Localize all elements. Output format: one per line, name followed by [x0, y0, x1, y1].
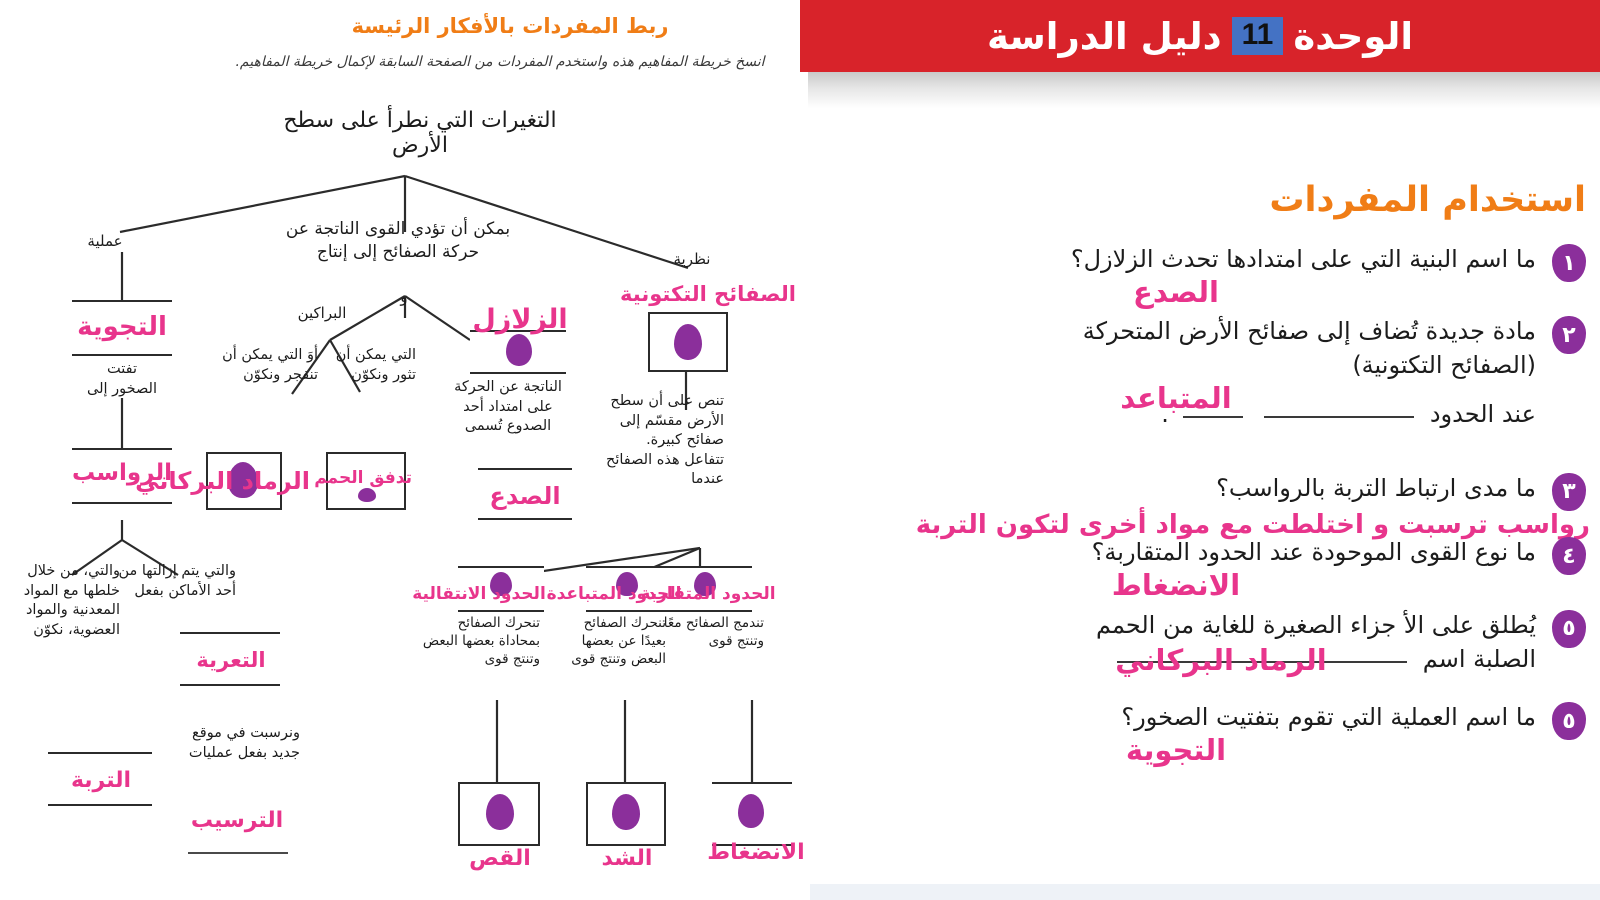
question-2-blank-short[interactable]: [1183, 416, 1243, 418]
compression-blob: [738, 794, 764, 828]
volcanic-ash-label: الرماد البركاني: [178, 468, 310, 495]
shear-blob: [486, 794, 514, 830]
question-4: ٤ ما نوع القوى الموحودة عند الحدود المتق…: [816, 535, 1592, 603]
question-2: ٢ مادة جديدة تُضاف إلى صفائح الأرض المتح…: [816, 314, 1592, 430]
tectonic-plates-desc: تنص على أن سطح الأرض مقسّم إلى صفائح كبي…: [604, 392, 724, 490]
unit-number-badge: 11: [1232, 17, 1284, 55]
header-title-left: دليل الدراسة: [987, 15, 1222, 58]
transform-boundary-label: الحدود الانتقالية: [404, 584, 554, 604]
question-5-text-line-1: يُطلق على الأ جزاء الصغيرة للغاية من الح…: [816, 608, 1536, 642]
vocabulary-panel: استخدام المفردات ١ ما اسم البنية التي عل…: [810, 120, 1600, 880]
question-5: ٥ يُطلق على الأ جزاء الصغيرة للغاية من ا…: [816, 608, 1592, 678]
weathering-desc: تفتت الصخور إلى: [60, 360, 184, 399]
deposition-label: الترسيب: [172, 808, 302, 833]
weathering-desc-line2: الصخور إلى: [87, 381, 157, 397]
lava-blob: [358, 488, 376, 502]
tension-blob: [612, 794, 640, 830]
volcano-desc-right: التي يمكن أن تثور ونكوّن: [318, 346, 416, 385]
convergent-desc: تندمج الصفائح معًا وتنتج قوى: [652, 614, 764, 650]
earthquakes-desc: الناتجة عن الحركة على امتداد أحد الصدوع …: [440, 378, 576, 437]
connector-label-process: عملية: [75, 232, 135, 250]
erosion-label: التعرية: [168, 648, 294, 672]
divergent-boundary-label: الحدود المتباعدة: [540, 584, 688, 604]
volcanoes-label: البراكين: [282, 304, 362, 322]
question-1-text: ما اسم البنية التي على امتدادها تحدث الز…: [816, 242, 1536, 276]
center-and-label: و: [386, 288, 422, 306]
question-6-text: ما اسم العملية التي تقوم بتفتيت الصخور؟: [816, 700, 1536, 734]
question-3: ٣ ما مدى ارتباط التربة بالرواسب؟: [816, 471, 1592, 505]
question-2-blank-long[interactable]: [1264, 416, 1414, 418]
page-header: الوحدة 11 دليل الدراسة: [800, 0, 1600, 72]
deposition-underline: [188, 852, 288, 854]
earthquakes-label: الزلازل: [462, 304, 578, 335]
sediments-desc-left: والتي، من خلال خلطها مع المواد المعدنية …: [14, 562, 120, 640]
header-title-right: الوحدة: [1293, 15, 1413, 58]
compression-force-label: الانضغاط: [686, 840, 826, 865]
question-3-text: ما مدى ارتباط التربة بالرواسب؟: [816, 471, 1536, 505]
question-3-bullet: ٣: [1552, 473, 1586, 511]
question-2-bullet: ٢: [1552, 316, 1586, 354]
question-2-line3-suffix: .: [1161, 400, 1169, 428]
question-5-answer-row: الصلبة اسم الرماد البركاني: [816, 642, 1536, 678]
center-branch-text: بمكن أن تؤدي القوى الناتجة عن حركة الصفا…: [268, 218, 528, 264]
fault-label: الصدع: [470, 482, 580, 510]
weathering-desc-line1: تفتت: [107, 361, 137, 377]
question-2-text-line-3: عند الحدود .: [816, 397, 1536, 431]
question-1-bullet: ١: [1552, 244, 1586, 282]
worksheet-page: ربط المفردات بالأفكار الرئيسة انسخ خريطة…: [0, 0, 1600, 900]
volcano-desc-left: أوَ التي يمكن أن تنفجر ونكوّن: [222, 346, 318, 385]
footer-band: [810, 884, 1600, 900]
concept-map-panel: ربط المفردات بالأفكار الرئيسة انسخ خريطة…: [0, 0, 800, 900]
divergent-desc: تنحرك الصفائح بعيدًا عن بعضها البعض وتنت…: [556, 614, 666, 669]
shear-force-label: القص: [452, 846, 548, 871]
vocabulary-heading: استخدام المفردات: [816, 180, 1586, 220]
question-4-answer: الانضغاط: [816, 567, 1536, 603]
sediments-desc-right: والتي يتم إزالتها من أحد الأماكن بفعل: [118, 562, 236, 601]
erosion-desc: ونرسبت في موقع جديد بفعل عمليات: [170, 724, 300, 763]
soil-label: التربة: [42, 768, 160, 793]
weathering-label: التجوية: [52, 312, 192, 342]
question-1: ١ ما اسم البنية التي على امتدادها تحدث ا…: [816, 242, 1592, 310]
question-4-text: ما نوع القوى الموحودة عند الحدود المتقار…: [816, 535, 1536, 569]
plates-blob: [674, 324, 702, 360]
question-1-answer: الصدع: [816, 274, 1536, 310]
tectonic-plates-label: الصفائح التكتونية: [608, 282, 808, 306]
question-2-text-line-2: (الصفائح التكتونية): [816, 348, 1536, 382]
question-5-answer: الرماد البركاني: [816, 642, 1600, 678]
lava-flow-label: تدفق الحمم: [320, 468, 412, 488]
question-6-answer: التجوية: [816, 732, 1536, 768]
tension-force-label: الشد: [582, 846, 672, 871]
question-4-bullet: ٤: [1552, 537, 1586, 575]
question-2-line3-prefix: عند الحدود: [1430, 400, 1536, 428]
question-6-bullet: ٥: [1552, 702, 1586, 740]
header-shadow-strip: [808, 72, 1600, 108]
transform-desc: تنحرك الصفائح بمحاداة بعضها البعض وتنتج …: [418, 614, 540, 669]
connector-label-theory: نظرية: [662, 250, 722, 268]
earthquakes-blob: [506, 334, 532, 366]
question-2-text-line-1: مادة جديدة تُضاف إلى صفائح الأرض المتحرك…: [816, 314, 1536, 348]
question-6: ٥ ما اسم العملية التي تقوم بتفتيت الصخور…: [816, 700, 1592, 768]
